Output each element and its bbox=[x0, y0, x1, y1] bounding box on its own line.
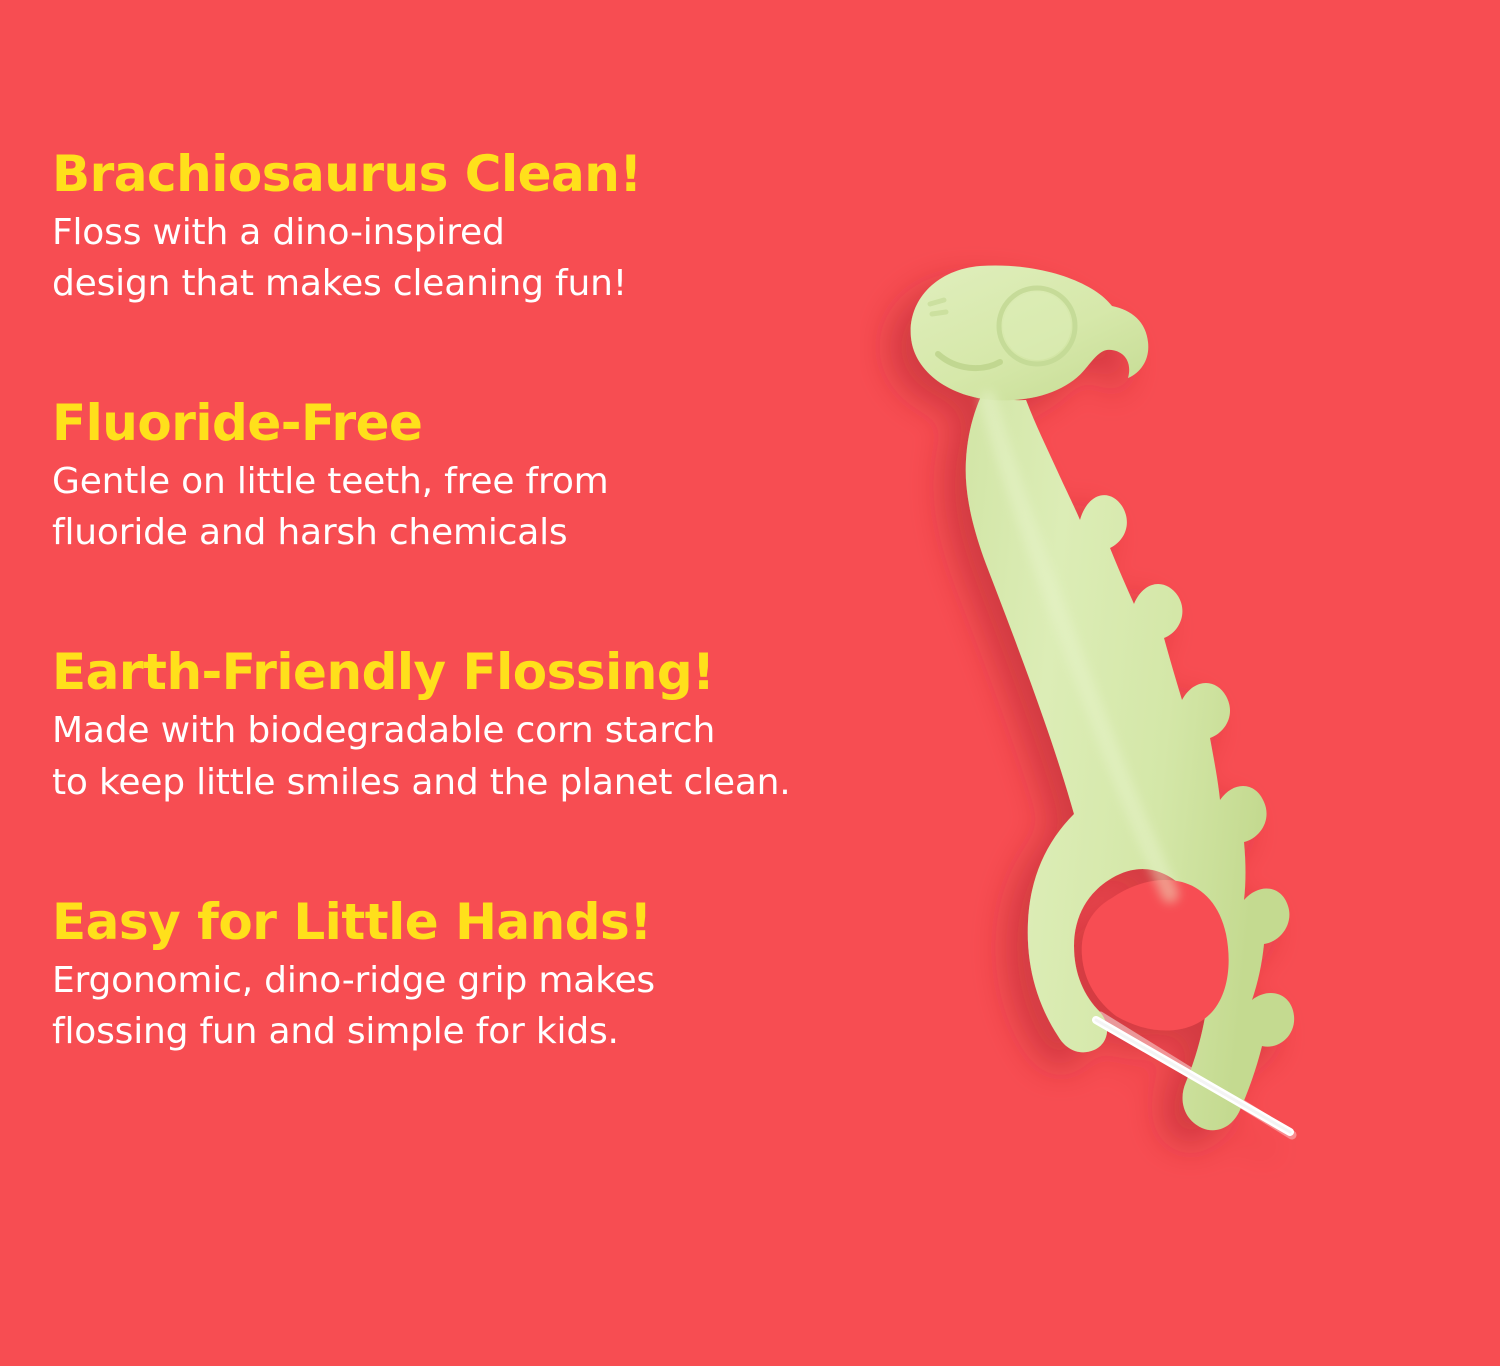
feature-item-fluoride-free: Fluoride-Free Gentle on little teeth, fr… bbox=[52, 397, 952, 558]
eye-highlight bbox=[1003, 292, 1071, 360]
feature-item-brachiosaurus-clean: Brachiosaurus Clean! Floss with a dino-i… bbox=[52, 148, 952, 309]
dino-body-shape bbox=[911, 265, 1295, 1135]
feature-description-line: to keep little smiles and the planet cle… bbox=[52, 757, 952, 808]
feature-item-earth-friendly-flossing: Earth-Friendly Flossing! Made with biode… bbox=[52, 646, 952, 807]
feature-description-line: design that makes cleaning fun! bbox=[52, 258, 952, 309]
feature-title: Earth-Friendly Flossing! bbox=[52, 646, 952, 699]
feature-description-line: flossing fun and simple for kids. bbox=[52, 1006, 952, 1057]
handle-loop-opening bbox=[1082, 880, 1229, 1031]
feature-description: Gentle on little teeth, free from fluori… bbox=[52, 456, 952, 558]
feature-description-line: Made with biodegradable corn starch bbox=[52, 705, 952, 756]
feature-title: Fluoride-Free bbox=[52, 397, 952, 450]
feature-title: Easy for Little Hands! bbox=[52, 896, 952, 949]
feature-description-line: Gentle on little teeth, free from bbox=[52, 456, 952, 507]
feature-title: Brachiosaurus Clean! bbox=[52, 148, 952, 201]
feature-description-line: Floss with a dino-inspired bbox=[52, 207, 952, 258]
product-image-dinosaur-floss-picker bbox=[860, 230, 1420, 1210]
feature-item-easy-for-little-hands: Easy for Little Hands! Ergonomic, dino-r… bbox=[52, 896, 952, 1057]
feature-description-line: fluoride and harsh chemicals bbox=[52, 507, 952, 558]
infographic-canvas: Brachiosaurus Clean! Floss with a dino-i… bbox=[0, 0, 1500, 1366]
feature-description: Ergonomic, dino-ridge grip makes flossin… bbox=[52, 955, 952, 1057]
feature-description-line: Ergonomic, dino-ridge grip makes bbox=[52, 955, 952, 1006]
feature-list: Brachiosaurus Clean! Floss with a dino-i… bbox=[52, 148, 952, 1057]
feature-description: Made with biodegradable corn starch to k… bbox=[52, 705, 952, 807]
feature-description: Floss with a dino-inspired design that m… bbox=[52, 207, 952, 309]
